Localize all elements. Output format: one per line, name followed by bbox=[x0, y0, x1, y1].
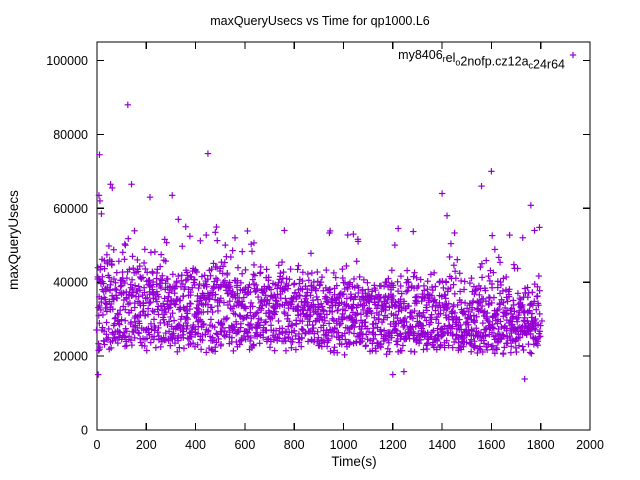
data-point bbox=[327, 348, 333, 354]
data-point bbox=[504, 298, 510, 304]
data-point bbox=[527, 349, 533, 355]
x-tick-label: 1200 bbox=[379, 438, 407, 452]
data-point bbox=[520, 347, 526, 353]
data-point bbox=[514, 265, 520, 271]
data-point bbox=[529, 289, 535, 295]
data-point bbox=[489, 232, 495, 238]
scatter-plot: maxQueryUsecs vs Time for qp1000.L6 0200… bbox=[0, 0, 640, 480]
data-point bbox=[361, 277, 367, 283]
data-point bbox=[106, 243, 112, 249]
data-point bbox=[485, 273, 491, 279]
data-point bbox=[285, 312, 291, 318]
data-point bbox=[171, 317, 177, 323]
data-point bbox=[467, 280, 473, 286]
data-point bbox=[343, 263, 349, 269]
data-point bbox=[376, 316, 382, 322]
data-point bbox=[125, 102, 131, 108]
data-point bbox=[114, 269, 120, 275]
data-point bbox=[147, 194, 153, 200]
data-point bbox=[230, 348, 236, 354]
data-point bbox=[141, 260, 147, 266]
data-point bbox=[477, 264, 483, 270]
data-point bbox=[203, 232, 209, 238]
data-point bbox=[235, 264, 241, 270]
data-point bbox=[341, 352, 347, 358]
data-point bbox=[401, 368, 407, 374]
data-point bbox=[287, 266, 293, 272]
data-point bbox=[356, 274, 362, 280]
data-point bbox=[363, 342, 369, 348]
y-tick-label: 20000 bbox=[53, 350, 88, 364]
data-point bbox=[330, 317, 336, 323]
data-point bbox=[153, 344, 159, 350]
data-point bbox=[424, 346, 430, 352]
data-point bbox=[478, 183, 484, 189]
data-point bbox=[116, 258, 122, 264]
data-point bbox=[436, 279, 442, 285]
data-point bbox=[519, 343, 525, 349]
chart-container: maxQueryUsecs vs Time for qp1000.L6 0200… bbox=[0, 0, 640, 480]
data-point bbox=[248, 300, 254, 306]
data-point bbox=[395, 225, 401, 231]
data-point bbox=[479, 274, 485, 280]
x-tick-label: 800 bbox=[284, 438, 305, 452]
data-point bbox=[443, 279, 449, 285]
data-point bbox=[309, 270, 315, 276]
data-point bbox=[331, 344, 337, 350]
data-point bbox=[323, 267, 329, 273]
data-point bbox=[354, 258, 360, 264]
data-point bbox=[285, 323, 291, 329]
data-point bbox=[97, 198, 103, 204]
x-tick-label: 2000 bbox=[576, 438, 604, 452]
data-point bbox=[410, 273, 416, 279]
x-tick-label: 400 bbox=[185, 438, 206, 452]
data-point bbox=[152, 249, 158, 255]
data-point bbox=[506, 232, 512, 238]
data-point bbox=[175, 216, 181, 222]
y-tick-label: 0 bbox=[81, 424, 88, 438]
chart-title: maxQueryUsecs vs Time for qp1000.L6 bbox=[210, 14, 430, 28]
data-point bbox=[250, 271, 256, 277]
x-axis-label: Time(s) bbox=[331, 454, 376, 469]
data-points-layer bbox=[93, 102, 545, 383]
data-point bbox=[111, 247, 117, 253]
legend-label: my8406relo2nofp.cz12ac24r64 bbox=[398, 48, 565, 72]
data-point bbox=[271, 347, 277, 353]
data-point bbox=[95, 371, 101, 377]
data-point bbox=[213, 224, 219, 230]
data-point bbox=[410, 228, 416, 234]
data-point bbox=[398, 273, 404, 279]
data-point bbox=[378, 283, 384, 289]
data-point bbox=[389, 267, 395, 273]
data-point bbox=[239, 271, 245, 277]
data-point bbox=[224, 315, 230, 321]
data-point bbox=[446, 254, 452, 260]
data-point bbox=[513, 349, 519, 355]
data-point bbox=[394, 279, 400, 285]
data-point bbox=[448, 240, 454, 246]
data-point bbox=[229, 247, 235, 253]
data-point bbox=[536, 311, 542, 317]
data-point bbox=[276, 262, 282, 268]
data-point bbox=[289, 322, 295, 328]
data-point bbox=[408, 348, 414, 354]
data-point bbox=[440, 285, 446, 291]
x-axis-ticks: 0200400600800100012001400160018002000 bbox=[94, 42, 604, 452]
data-point bbox=[179, 243, 185, 249]
data-point bbox=[350, 231, 356, 237]
data-point bbox=[511, 261, 517, 267]
data-point bbox=[169, 192, 175, 198]
data-point bbox=[508, 349, 514, 355]
data-point bbox=[439, 190, 445, 196]
data-point bbox=[283, 348, 289, 354]
data-point bbox=[268, 322, 274, 328]
data-point bbox=[280, 269, 286, 275]
data-point bbox=[183, 314, 189, 320]
data-point bbox=[205, 150, 211, 156]
data-point bbox=[496, 254, 502, 260]
plot-border bbox=[97, 42, 590, 430]
data-point bbox=[539, 318, 545, 324]
data-point bbox=[521, 376, 527, 382]
data-point bbox=[98, 211, 104, 217]
data-point bbox=[222, 242, 228, 248]
data-point bbox=[492, 246, 498, 252]
data-point bbox=[215, 308, 221, 314]
data-point bbox=[122, 343, 128, 349]
data-point bbox=[394, 341, 400, 347]
y-tick-label: 80000 bbox=[53, 128, 88, 142]
data-point bbox=[267, 344, 273, 350]
data-point bbox=[528, 350, 534, 356]
data-point bbox=[500, 351, 506, 357]
data-point bbox=[232, 235, 238, 241]
data-point bbox=[128, 181, 134, 187]
data-point bbox=[500, 275, 506, 281]
data-point bbox=[239, 248, 245, 254]
data-point bbox=[197, 238, 203, 244]
data-point bbox=[122, 241, 128, 247]
data-point bbox=[198, 346, 204, 352]
data-point bbox=[411, 349, 417, 355]
data-point bbox=[212, 229, 218, 235]
data-point bbox=[341, 291, 347, 297]
data-point bbox=[249, 248, 255, 254]
data-point bbox=[428, 271, 434, 277]
data-point bbox=[444, 212, 450, 218]
data-point bbox=[208, 316, 214, 322]
data-point bbox=[222, 333, 228, 339]
data-point bbox=[392, 242, 398, 248]
data-point bbox=[528, 202, 534, 208]
data-point bbox=[250, 341, 256, 347]
x-tick-label: 1600 bbox=[477, 438, 505, 452]
data-point bbox=[451, 262, 457, 268]
data-point bbox=[345, 232, 351, 238]
data-point bbox=[454, 256, 460, 262]
data-point bbox=[129, 342, 135, 348]
data-point bbox=[406, 335, 412, 341]
x-tick-label: 1800 bbox=[527, 438, 555, 452]
data-point bbox=[425, 278, 431, 284]
data-point bbox=[214, 237, 220, 243]
data-point bbox=[429, 304, 435, 310]
data-point bbox=[134, 257, 140, 263]
data-point bbox=[151, 316, 157, 322]
data-point bbox=[121, 256, 127, 262]
data-point bbox=[129, 253, 135, 259]
data-point bbox=[314, 269, 320, 275]
y-tick-label: 60000 bbox=[53, 202, 88, 216]
data-point bbox=[468, 275, 474, 281]
data-point bbox=[351, 276, 357, 282]
data-point bbox=[158, 344, 164, 350]
data-point bbox=[180, 293, 186, 299]
data-point bbox=[431, 270, 437, 276]
data-point bbox=[273, 298, 279, 304]
data-point bbox=[263, 266, 269, 272]
data-point bbox=[257, 269, 263, 275]
data-point bbox=[364, 280, 370, 286]
data-point bbox=[183, 277, 189, 283]
data-point bbox=[258, 264, 264, 270]
data-point bbox=[536, 224, 542, 230]
data-point bbox=[339, 266, 345, 272]
data-point bbox=[319, 274, 325, 280]
data-point bbox=[295, 262, 301, 268]
data-point bbox=[187, 233, 193, 239]
data-point bbox=[503, 274, 509, 280]
data-point bbox=[183, 224, 189, 230]
y-tick-label: 100000 bbox=[46, 54, 88, 68]
data-point bbox=[308, 250, 314, 256]
data-point bbox=[195, 306, 201, 312]
data-point bbox=[489, 285, 495, 291]
data-point bbox=[122, 317, 128, 323]
data-point bbox=[242, 267, 248, 273]
data-point bbox=[103, 319, 109, 325]
data-point bbox=[531, 227, 537, 233]
x-tick-label: 600 bbox=[234, 438, 255, 452]
data-point bbox=[131, 228, 137, 234]
data-point bbox=[404, 267, 410, 273]
data-point bbox=[104, 252, 110, 258]
data-point bbox=[520, 235, 526, 241]
data-point bbox=[281, 309, 287, 315]
legend-marker bbox=[570, 52, 576, 58]
data-point bbox=[488, 168, 494, 174]
x-tick-label: 200 bbox=[136, 438, 157, 452]
data-point bbox=[256, 340, 262, 346]
data-point bbox=[461, 278, 467, 284]
data-point bbox=[451, 230, 457, 236]
data-point bbox=[390, 371, 396, 377]
data-point bbox=[120, 249, 126, 255]
data-point bbox=[244, 228, 250, 234]
data-point bbox=[404, 287, 410, 293]
data-point bbox=[129, 277, 135, 283]
data-point bbox=[479, 261, 485, 267]
data-point bbox=[122, 242, 128, 248]
data-point bbox=[142, 246, 148, 252]
data-point bbox=[275, 318, 281, 324]
x-tick-label: 0 bbox=[94, 438, 101, 452]
data-point bbox=[480, 320, 486, 326]
data-point bbox=[170, 271, 176, 277]
data-point bbox=[158, 251, 164, 257]
data-point bbox=[508, 343, 514, 349]
data-point bbox=[374, 340, 380, 346]
y-tick-label: 40000 bbox=[53, 276, 88, 290]
legend: my8406relo2nofp.cz12ac24r64 bbox=[398, 48, 576, 72]
x-tick-label: 1000 bbox=[330, 438, 358, 452]
data-point bbox=[93, 327, 99, 333]
data-point bbox=[483, 257, 489, 263]
y-axis-label: maxQueryUsecs bbox=[6, 190, 21, 290]
data-point bbox=[181, 345, 187, 351]
data-point bbox=[125, 235, 131, 241]
data-point bbox=[279, 259, 285, 265]
data-point bbox=[158, 277, 164, 283]
data-point bbox=[228, 254, 234, 260]
x-tick-label: 1400 bbox=[428, 438, 456, 452]
data-point bbox=[251, 262, 257, 268]
data-point bbox=[536, 273, 542, 279]
data-point bbox=[281, 227, 287, 233]
data-point bbox=[497, 259, 503, 265]
data-point bbox=[148, 339, 154, 345]
data-point bbox=[525, 341, 531, 347]
